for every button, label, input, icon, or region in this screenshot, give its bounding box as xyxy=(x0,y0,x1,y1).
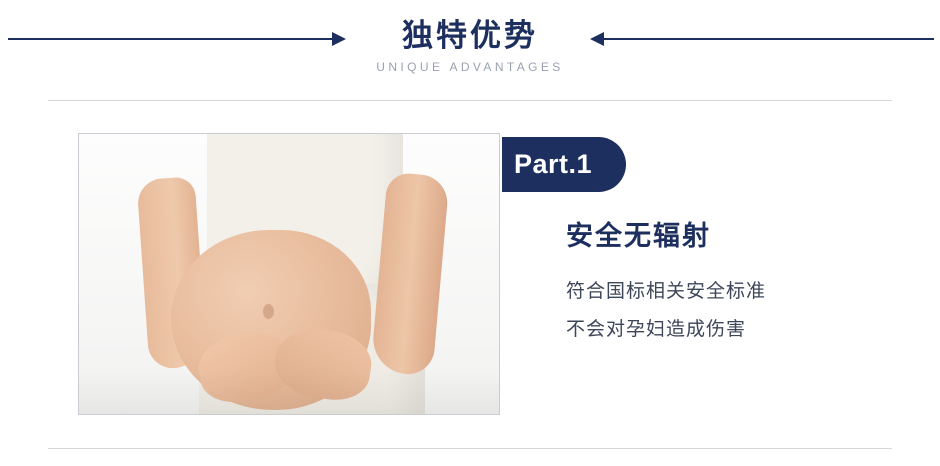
feature-description-line-1: 符合国标相关安全标准 xyxy=(566,273,766,311)
section-title-cn: 独特优势 xyxy=(0,16,940,56)
feature-photo xyxy=(78,133,500,415)
feature-description-line-2: 不会对孕妇造成伤害 xyxy=(566,311,766,349)
section-header: 独特优势 UNIQUE ADVANTAGES xyxy=(0,0,940,96)
section-title-en: UNIQUE ADVANTAGES xyxy=(0,58,940,76)
feature-description: 符合国标相关安全标准 不会对孕妇造成伤害 xyxy=(566,273,766,349)
feature-headline: 安全无辐射 xyxy=(566,218,711,254)
divider-bottom xyxy=(48,448,892,449)
section-content: Part.1 安全无辐射 符合国标相关安全标准 不会对孕妇造成伤害 xyxy=(0,100,940,448)
feature-photo-image xyxy=(79,134,499,414)
part-badge: Part.1 xyxy=(502,137,626,192)
photo-navel xyxy=(263,304,274,319)
advantage-section-page: 独特优势 UNIQUE ADVANTAGES Part.1 安全无辐射 符合国标… xyxy=(0,0,940,466)
photo-shadow xyxy=(79,368,499,414)
